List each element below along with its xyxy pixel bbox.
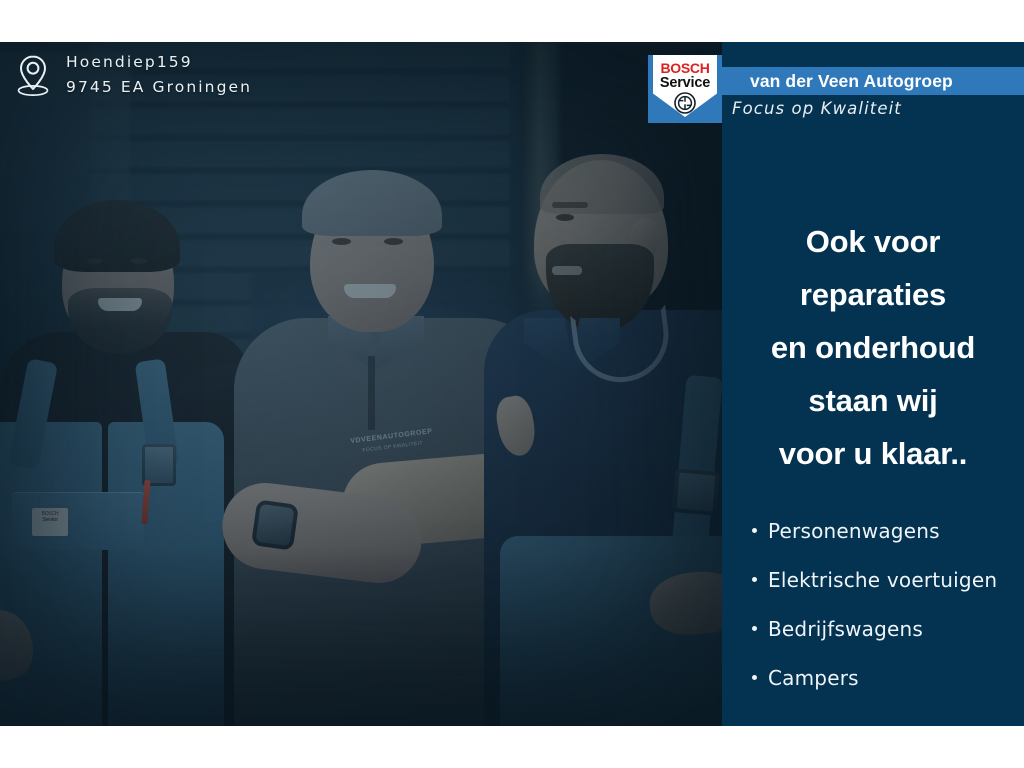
service-label: Campers bbox=[768, 654, 859, 703]
headline-line-4: staan wij bbox=[722, 374, 1024, 427]
location-pin-icon bbox=[14, 52, 52, 98]
services-list: Personenwagens Elektrische voertuigen Be… bbox=[752, 507, 1024, 703]
bosch-logo-wordmark: BOSCH bbox=[648, 60, 722, 76]
address-block: Hoendiep159 9745 EA Groningen bbox=[14, 50, 252, 100]
photo-vignette bbox=[0, 42, 722, 726]
company-name: van der Veen Autogroep bbox=[722, 67, 1024, 95]
service-label: Elektrische voertuigen bbox=[768, 556, 997, 605]
address-line-1: Hoendiep159 bbox=[66, 50, 252, 75]
bosch-service-logo: BOSCH Service bbox=[648, 55, 722, 123]
headline-line-2: reparaties bbox=[722, 268, 1024, 321]
headline: Ook voor reparaties en onderhoud staan w… bbox=[722, 215, 1024, 480]
headline-line-5: voor u klaar.. bbox=[722, 427, 1024, 480]
headline-line-3: en onderhoud bbox=[722, 321, 1024, 374]
company-tagline: Focus op Kwaliteit bbox=[722, 99, 1024, 118]
list-item: Bedrijfswagens bbox=[752, 605, 1024, 654]
list-item: Elektrische voertuigen bbox=[752, 556, 1024, 605]
list-item: Personenwagens bbox=[752, 507, 1024, 556]
list-item: Campers bbox=[752, 654, 1024, 703]
bullet-icon bbox=[752, 626, 757, 631]
service-label: Personenwagens bbox=[768, 507, 940, 556]
info-panel: BOSCH Service van der Veen Autogroep Foc… bbox=[722, 42, 1024, 726]
bosch-armature-icon bbox=[674, 92, 696, 114]
address-text: Hoendiep159 9745 EA Groningen bbox=[66, 50, 252, 100]
headline-line-1: Ook voor bbox=[722, 215, 1024, 268]
address-line-2: 9745 EA Groningen bbox=[66, 75, 252, 100]
service-label: Bedrijfswagens bbox=[768, 605, 923, 654]
bullet-icon bbox=[752, 675, 757, 680]
bullet-icon bbox=[752, 528, 757, 533]
workshop-photo: BOSCH Service VDVEENAUTOGROEP FOCUS OP K… bbox=[0, 42, 722, 726]
promotional-banner: BOSCH Service VDVEENAUTOGROEP FOCUS OP K… bbox=[0, 42, 1024, 726]
bosch-logo-service-text: Service bbox=[648, 75, 722, 91]
bullet-icon bbox=[752, 577, 757, 582]
